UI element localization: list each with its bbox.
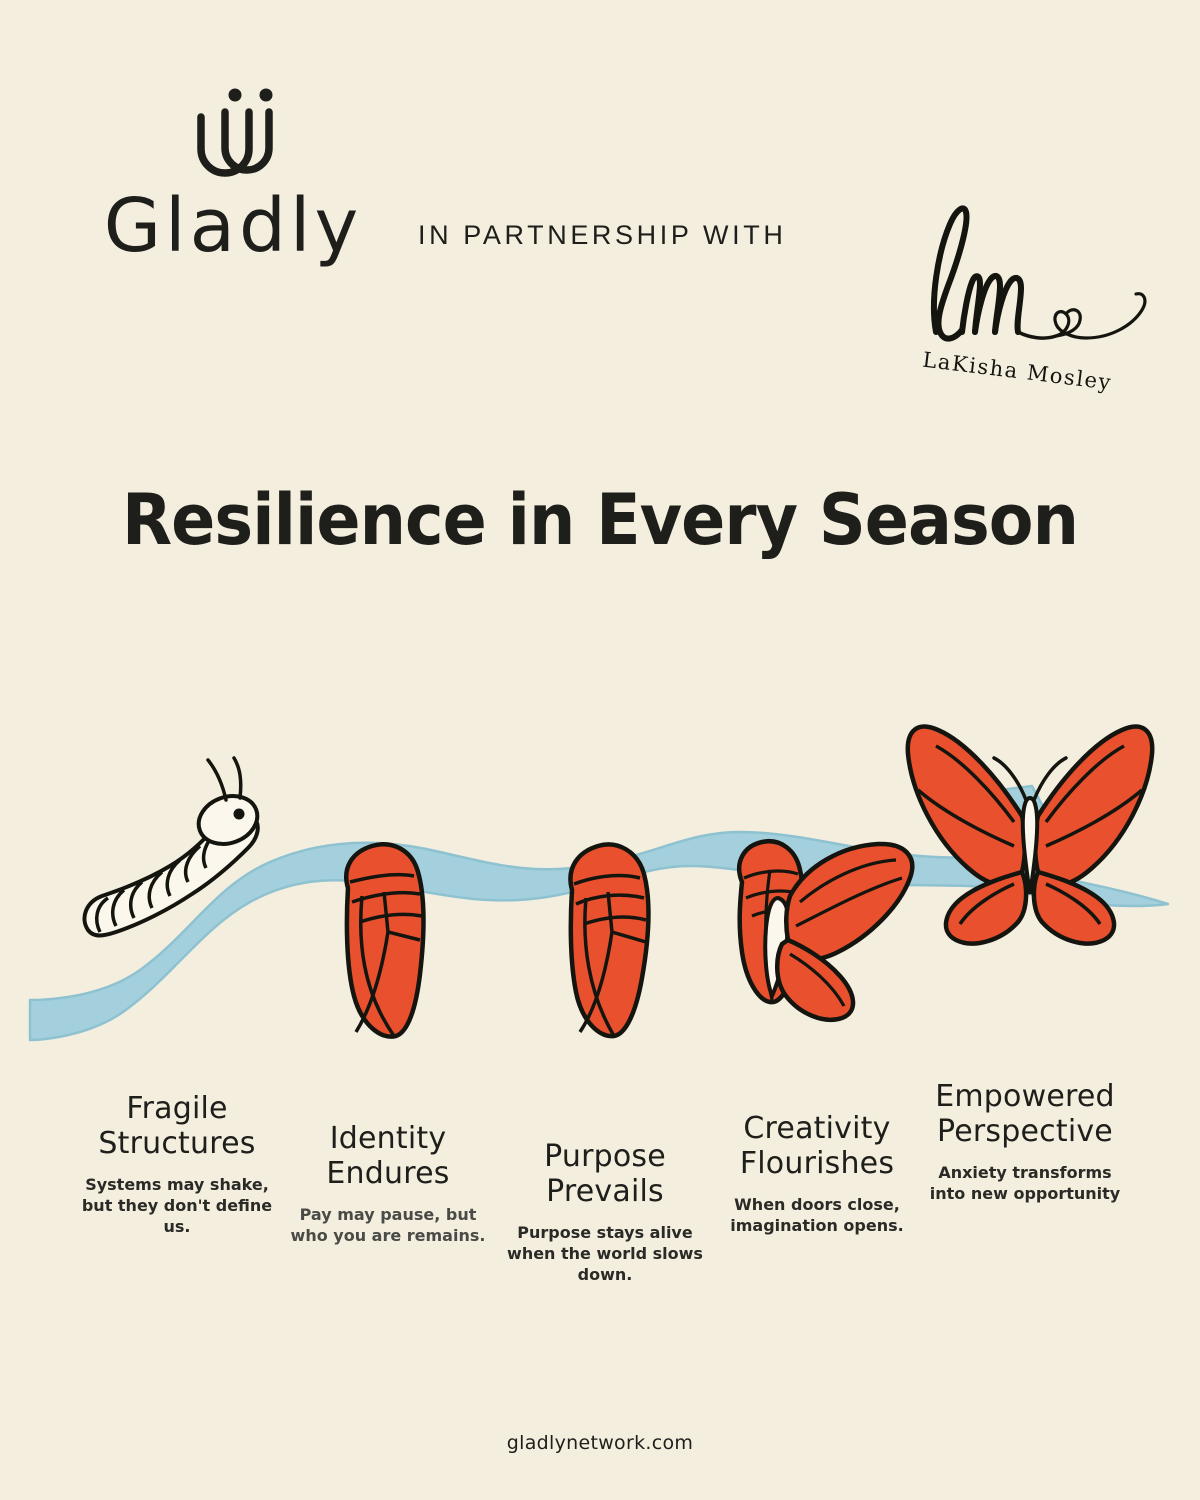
butterfly-icon [908, 727, 1152, 944]
chrysalis-icon [346, 844, 423, 1036]
caption-purpose-prevails: Purpose Prevails Purpose stays alive whe… [498, 1140, 712, 1285]
partner-name-text: LaKisha Mosley [921, 348, 1113, 395]
caption-body: Systems may shake, but they don't define… [72, 1174, 282, 1237]
caption-heading: Purpose Prevails [498, 1140, 712, 1210]
emerging-butterfly-icon [739, 841, 912, 1020]
caption-body: Anxiety transforms into new opportunity [918, 1162, 1132, 1204]
metamorphosis-illustration [0, 640, 1200, 1080]
gladly-brand: Gladly [88, 86, 378, 263]
caption-body: Pay may pause, but who you are remains. [288, 1204, 488, 1246]
lakisha-mosley-logo: LaKisha Mosley [880, 182, 1170, 402]
caption-identity-endures: Identity Endures Pay may pause, but who … [288, 1122, 488, 1246]
caption-heading: Creativity Flourishes [722, 1112, 912, 1182]
caption-heading: Fragile Structures [72, 1092, 282, 1162]
caption-body: When doors close, imagination opens. [722, 1194, 912, 1236]
page-title: Resilience in Every Season [42, 479, 1158, 561]
header: Gladly IN PARTNERSHIP WITH LaKisha Mosle… [0, 86, 1200, 326]
caption-row: Fragile Structures Systems may shake, bu… [0, 1080, 1200, 1340]
caption-creativity-flourishes: Creativity Flourishes When doors close, … [722, 1112, 912, 1236]
caption-fragile-structures: Fragile Structures Systems may shake, bu… [72, 1092, 282, 1237]
footer-website[interactable]: gladlynetwork.com [0, 1432, 1200, 1454]
caption-heading: Identity Endures [288, 1122, 488, 1192]
chrysalis-icon [570, 844, 648, 1036]
infographic-page: Gladly IN PARTNERSHIP WITH LaKisha Mosle… [0, 0, 1200, 1500]
gladly-smile-mark-icon [88, 86, 378, 183]
caption-empowered-perspective: Empowered Perspective Anxiety transforms… [918, 1080, 1132, 1204]
caption-body: Purpose stays alive when the world slows… [498, 1222, 712, 1285]
gladly-wordmark: Gladly [88, 189, 378, 263]
caption-heading: Empowered Perspective [918, 1080, 1132, 1150]
partnership-label: IN PARTNERSHIP WITH [418, 220, 786, 251]
